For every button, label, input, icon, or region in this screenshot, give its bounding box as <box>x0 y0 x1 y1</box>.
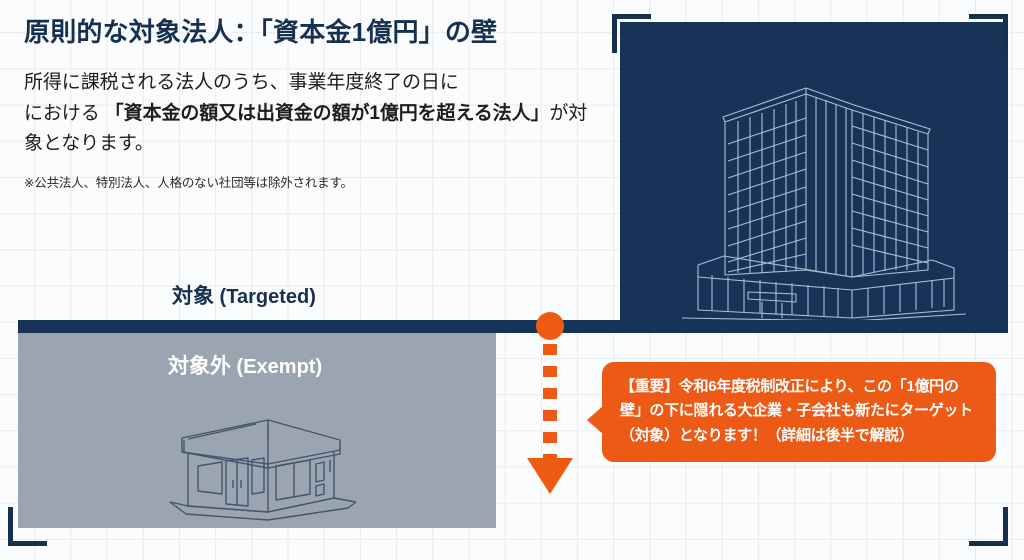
high-rise-building-panel <box>620 22 1008 322</box>
label-exempt-jp: 対象外 <box>168 355 231 378</box>
orange-dot-marker-icon <box>536 312 564 340</box>
body-paragraph: 所得に課税される法人のうち、事業年度終了の日ににおける 「資本金の額又は出資金の… <box>24 68 604 160</box>
body-line-2-prefix: における <box>24 103 105 124</box>
important-callout-box: 【重要】令和6年度税制改正により、この「1億円の壁」の下に隠れる大企業・子会社も… <box>602 362 996 462</box>
capital-threshold-wall-bar <box>18 320 1008 333</box>
label-exempt-en: (Exempt) <box>231 356 322 378</box>
corner-bracket-bottom-left-icon <box>8 507 47 546</box>
footnote-text: ※公共法人、特別法人、人格のない社団等は除外されます。 <box>24 172 604 191</box>
dashed-down-arrow-head-icon <box>527 458 573 494</box>
page-title: 原則的な対象法人：「資本金1億円」の壁 <box>24 16 604 50</box>
label-exempt: 対象外 (Exempt) <box>168 350 322 380</box>
corner-bracket-bottom-right-icon <box>969 507 1008 546</box>
text-block: 原則的な対象法人：「資本金1億円」の壁 所得に課税される法人のうち、事業年度終了… <box>24 16 604 191</box>
callout-text: 【重要】令和6年度税制改正により、この「1億円の壁」の下に隠れる大企業・子会社も… <box>620 378 973 444</box>
body-line-1: 所得に課税される法人のうち、事業年度終了の日に <box>24 72 459 93</box>
small-shop-building-icon <box>144 402 376 522</box>
corner-bracket-top-left-icon <box>612 14 651 53</box>
slide-canvas: 原則的な対象法人：「資本金1億円」の壁 所得に課税される法人のうち、事業年度終了… <box>0 0 1024 560</box>
callout-tail-icon <box>587 406 603 434</box>
body-emphasis: 「資本金の額又は出資金の額が1億円を超える法人」 <box>105 103 550 124</box>
label-targeted-jp: 対象 <box>172 285 214 308</box>
corner-bracket-top-right-icon <box>969 14 1008 53</box>
high-rise-building-icon <box>620 22 1008 322</box>
label-targeted-en: (Targeted) <box>214 286 316 308</box>
dashed-down-arrow-shaft-icon <box>543 344 557 462</box>
label-targeted: 対象 (Targeted) <box>172 280 316 310</box>
